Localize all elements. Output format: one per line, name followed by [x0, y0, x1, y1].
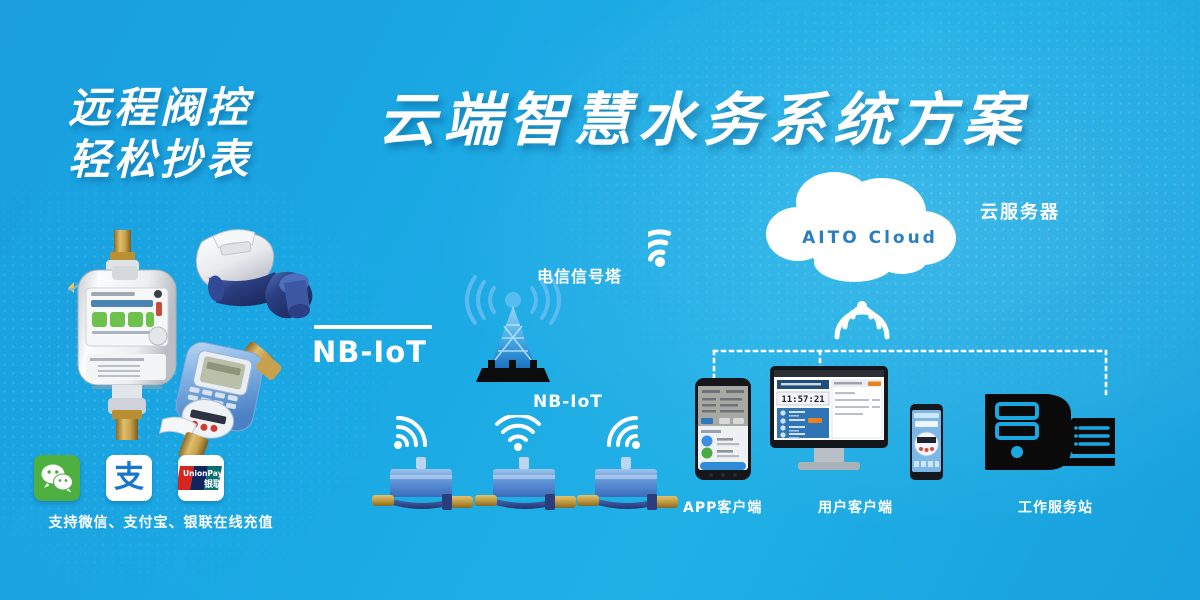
- slogan-line-1: 远程阀控: [68, 82, 368, 134]
- alipay-icon[interactable]: 支: [106, 455, 152, 501]
- device-label-workstation: 工作服务站: [1018, 497, 1093, 517]
- page-title: 云端智慧水务系统方案: [378, 86, 1028, 154]
- wifi-icon-meter-1: [390, 415, 436, 451]
- wifi-icon-meter-2: [495, 415, 541, 451]
- handheld-reader-icon: [910, 404, 943, 480]
- wifi-icon-meter-3: [598, 415, 644, 451]
- smartphone-icon: [695, 378, 751, 480]
- wifi-icon-tower-uplink: [648, 218, 718, 280]
- device-label-user-client: 用户客户端: [818, 497, 893, 517]
- payment-methods: 支 UnionPay 银联: [34, 455, 224, 501]
- wifi-icon-cloud-downlink: [834, 296, 890, 344]
- nbiot-primary-label-group: NB-IoT: [312, 325, 432, 369]
- alipay-glyph: 支: [114, 463, 144, 493]
- field-water-meter-2: [473, 455, 578, 517]
- slogan-line-2: 轻松抄表: [68, 134, 368, 186]
- svg-text:UnionPay: UnionPay: [183, 469, 223, 478]
- product-photo-group: [40, 225, 310, 460]
- computer-tower-icon: [985, 382, 1115, 480]
- slogan: 远程阀控 轻松抄表: [68, 82, 368, 186]
- monitor-clock: 11:57:21: [781, 395, 824, 405]
- nbiot-primary-label: NB-IoT: [312, 335, 427, 369]
- payment-caption: 支持微信、支付宝、银联在线充值: [26, 512, 296, 532]
- svg-text:银联: 银联: [204, 478, 223, 490]
- cloud-brand-text: AITO Cloud: [795, 228, 945, 248]
- unionpay-icon[interactable]: UnionPay 银联: [178, 455, 224, 501]
- field-water-meter-1: [370, 455, 475, 517]
- desktop-monitor-icon: 11:57:21: [768, 366, 890, 478]
- tower-label: 电信信号塔: [537, 263, 622, 287]
- cloud-server-label: 云服务器: [980, 198, 1060, 224]
- nbiot-rule: [314, 325, 432, 329]
- poster-canvas: 远程阀控 轻松抄表 云端智慧水务系统方案: [0, 0, 1200, 600]
- field-water-meter-3: [575, 455, 680, 517]
- device-label-app-client: APP客户端: [683, 497, 762, 517]
- wechat-pay-icon[interactable]: [34, 455, 80, 501]
- nbiot-secondary-label: NB-IoT: [533, 392, 603, 412]
